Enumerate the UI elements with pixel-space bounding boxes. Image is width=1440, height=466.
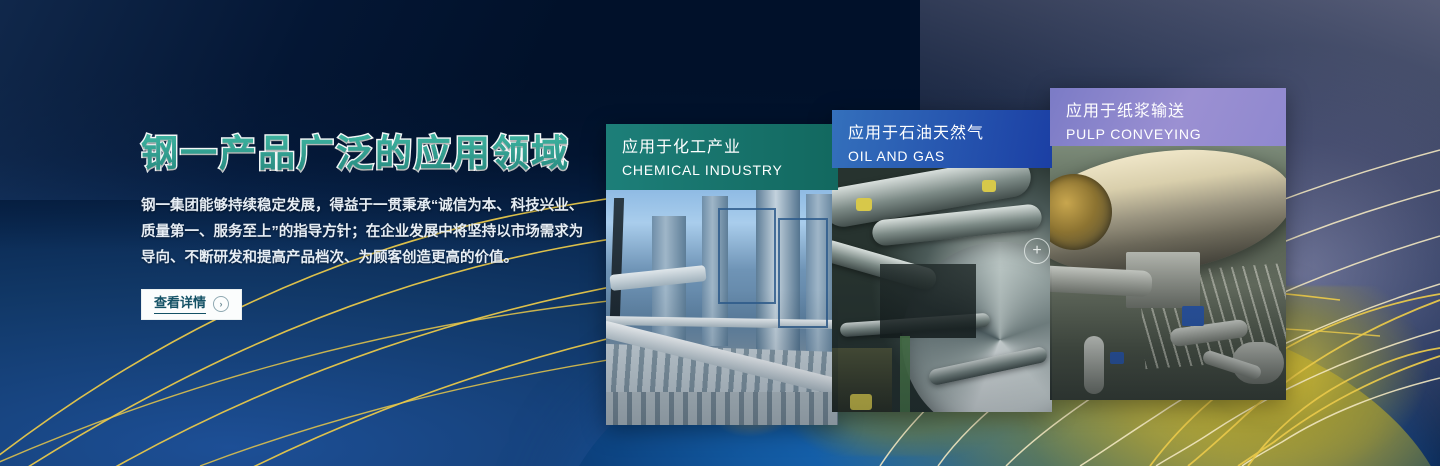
chemical-card-title-en: CHEMICAL INDUSTRY [622, 160, 838, 180]
oil-and-gas-piping-photo [832, 168, 1052, 412]
chemical-card-label: 应用于化工产业 CHEMICAL INDUSTRY [606, 124, 838, 190]
view-details-button[interactable]: 查看详情 › [141, 289, 242, 320]
hero-copy: 钢一产品广泛的应用领域 钢一产品广泛的应用领域 钢一集团能够持续稳定发展，得益于… [141, 131, 611, 320]
oil-card-title-en: OIL AND GAS [848, 146, 1052, 166]
pulp-card-label: 应用于纸浆输送 PULP CONVEYING [1050, 88, 1286, 146]
category-card-chemical[interactable]: 应用于化工产业 CHEMICAL INDUSTRY [606, 124, 838, 425]
pulp-card-title-cn: 应用于纸浆输送 [1066, 100, 1286, 124]
oil-card-label: 应用于石油天然气 OIL AND GAS [832, 110, 1052, 168]
hero-banner: 钢一产品广泛的应用领域 钢一产品广泛的应用领域 钢一集团能够持续稳定发展，得益于… [0, 0, 1440, 466]
plus-zoom-icon[interactable]: + [1024, 238, 1050, 264]
category-card-pulp-conveying[interactable]: 应用于纸浆输送 PULP CONVEYING [1050, 88, 1286, 400]
hero-description: 钢一集团能够持续稳定发展，得益于一贯秉承“诚信为本、科技兴业、质量第一、服务至上… [141, 193, 593, 271]
page-title-wrap: 钢一产品广泛的应用领域 钢一产品广泛的应用领域 [141, 131, 611, 179]
chemical-plant-photo [606, 190, 838, 425]
pulp-card-title-en: PULP CONVEYING [1066, 124, 1286, 144]
page-title: 钢一产品广泛的应用领域 [141, 131, 570, 177]
chevron-right-icon: › [213, 296, 229, 312]
oil-card-title-cn: 应用于石油天然气 [848, 122, 1052, 146]
view-details-label: 查看详情 [154, 294, 206, 314]
chemical-card-title-cn: 应用于化工产业 [622, 136, 838, 160]
category-card-oil-and-gas[interactable]: + 应用于石油天然气 OIL AND GAS [832, 110, 1052, 412]
pulp-mill-roller-photo [1050, 146, 1286, 400]
